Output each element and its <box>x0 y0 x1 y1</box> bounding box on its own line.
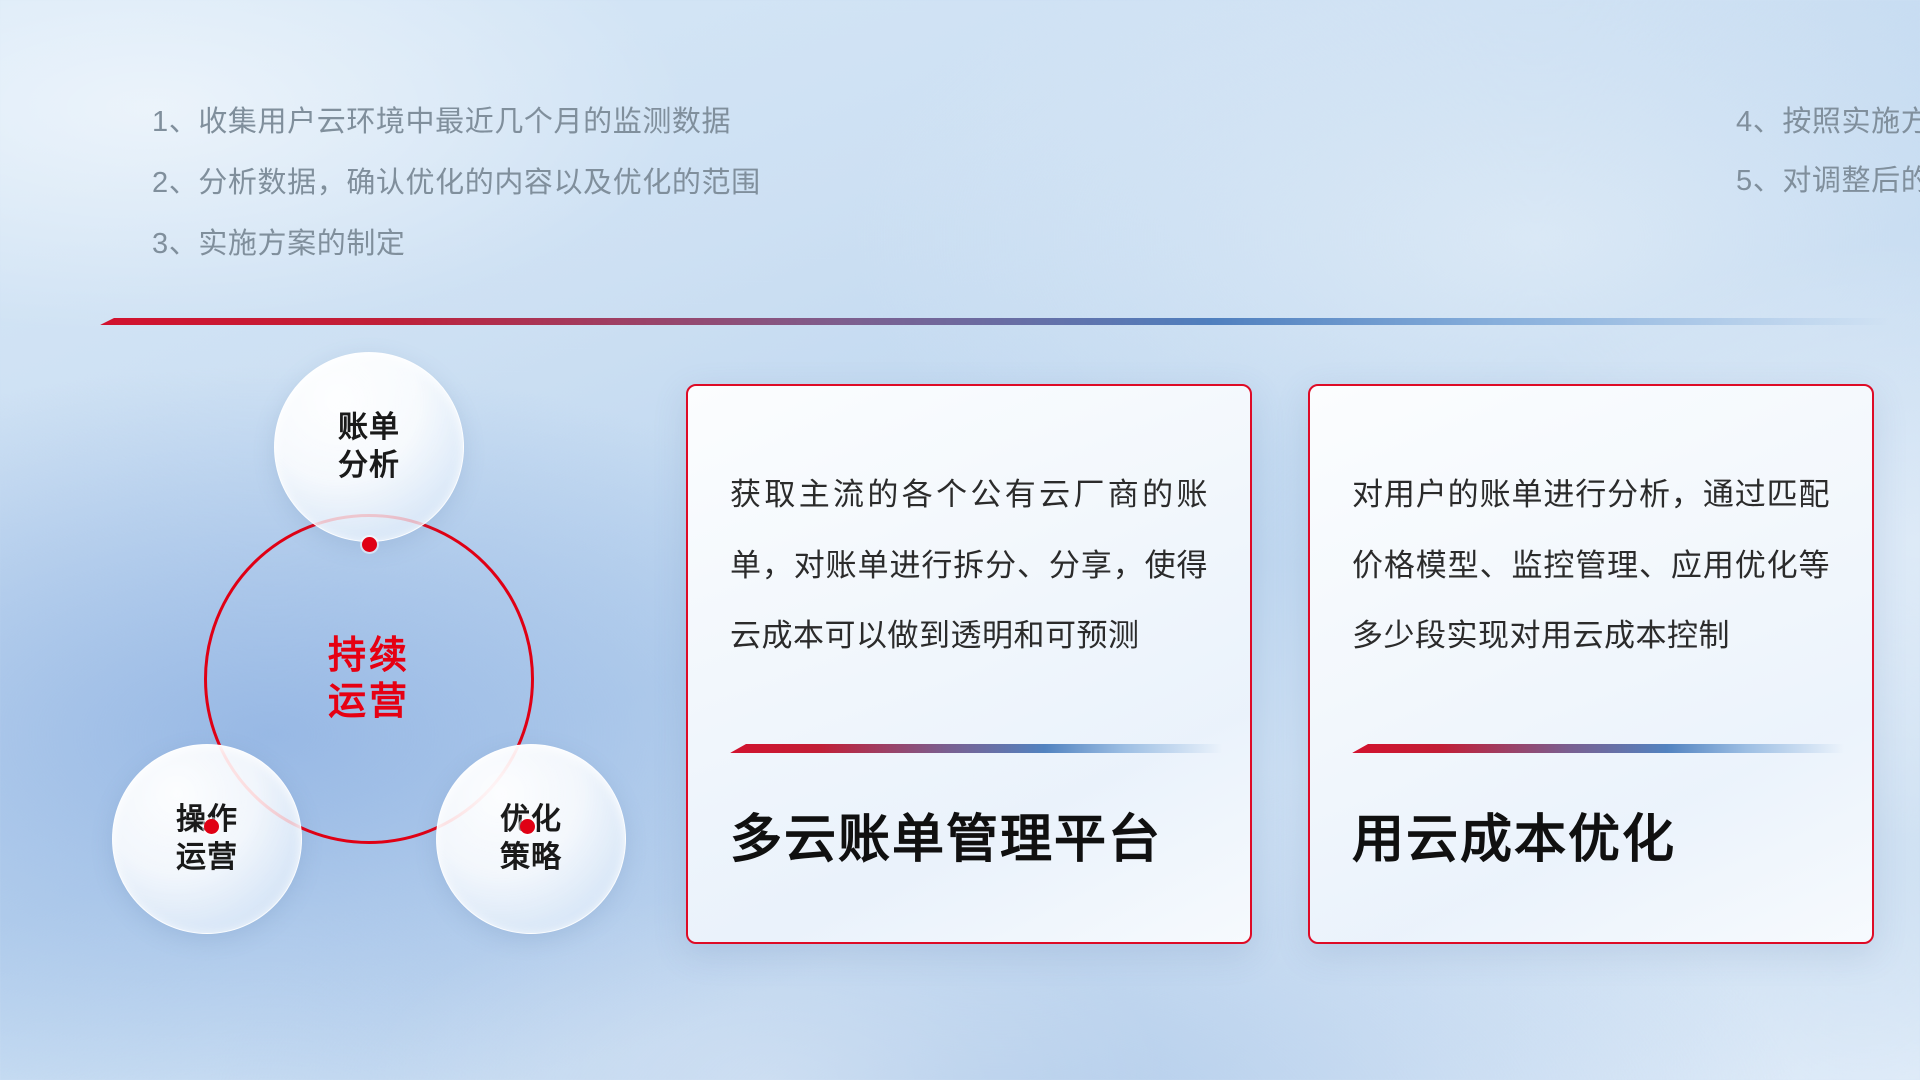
card-accent-rule <box>730 744 1222 753</box>
bullet-lists: 1、收集用户云环境中最近几个月的监测数据 2、分析数据，确认优化的内容以及优化的… <box>0 108 1920 291</box>
card-title: 用云成本优化 <box>1352 753 1830 942</box>
venn-bubble-label-line-1: 账单 <box>338 409 400 447</box>
venn-center-line-1: 持续 <box>328 633 410 679</box>
venn-node-dot-bottom-right <box>520 819 535 834</box>
card-body-text: 获取主流的各个公有云厂商的账单，对账单进行拆分、分享，使得云成本可以做到透明和可… <box>730 460 1208 672</box>
card-multicloud-billing-platform[interactable]: 获取主流的各个公有云厂商的账单，对账单进行拆分、分享，使得云成本可以做到透明和可… <box>686 384 1252 944</box>
venn-bubble-label-line-2: 分析 <box>338 447 400 485</box>
bullet-column-right: 4、按照实施方案进行成本优化 5、对调整后的环境进行性能评估和优化调整 <box>880 108 1920 291</box>
venn-center-line-2: 运营 <box>328 679 410 725</box>
venn-node-dot-top <box>362 537 377 552</box>
venn-node-dot-bottom-left <box>204 819 219 834</box>
bullet-column-left: 1、收集用户云环境中最近几个月的监测数据 2、分析数据，确认优化的内容以及优化的… <box>0 108 880 291</box>
venn-bubble-billing-analysis[interactable]: 账单 分析 <box>274 352 464 542</box>
section-divider <box>100 318 1890 325</box>
venn-bubble-label-line-2: 运营 <box>176 839 238 877</box>
bullet-item: 2、分析数据，确认优化的内容以及优化的范围 <box>152 169 880 198</box>
venn-bubble-operations[interactable]: 操作 运营 <box>112 744 302 934</box>
venn-bubble-optimization-strategy[interactable]: 优化 策略 <box>436 744 626 934</box>
venn-bubble-label-line-2: 策略 <box>500 839 562 877</box>
card-title: 多云账单管理平台 <box>730 753 1208 942</box>
bullet-item: 1、收集用户云环境中最近几个月的监测数据 <box>152 108 880 137</box>
bullet-item: 3、实施方案的制定 <box>152 230 880 259</box>
card-accent-rule <box>1352 744 1844 753</box>
card-body-text: 对用户的账单进行分析，通过匹配价格模型、监控管理、应用优化等多少段实现对用云成本… <box>1352 460 1830 672</box>
venn-diagram: 持续 运营 账单 分析 操作 运营 优化 策略 <box>96 352 656 952</box>
bullet-item: 5、对调整后的环境进行性能评估和优化调整 <box>1736 167 1920 196</box>
card-cloud-cost-optimization[interactable]: 对用户的账单进行分析，通过匹配价格模型、监控管理、应用优化等多少段实现对用云成本… <box>1308 384 1874 944</box>
card-group: 获取主流的各个公有云厂商的账单，对账单进行拆分、分享，使得云成本可以做到透明和可… <box>686 384 1874 944</box>
bullet-item: 4、按照实施方案进行成本优化 <box>1736 108 1920 137</box>
